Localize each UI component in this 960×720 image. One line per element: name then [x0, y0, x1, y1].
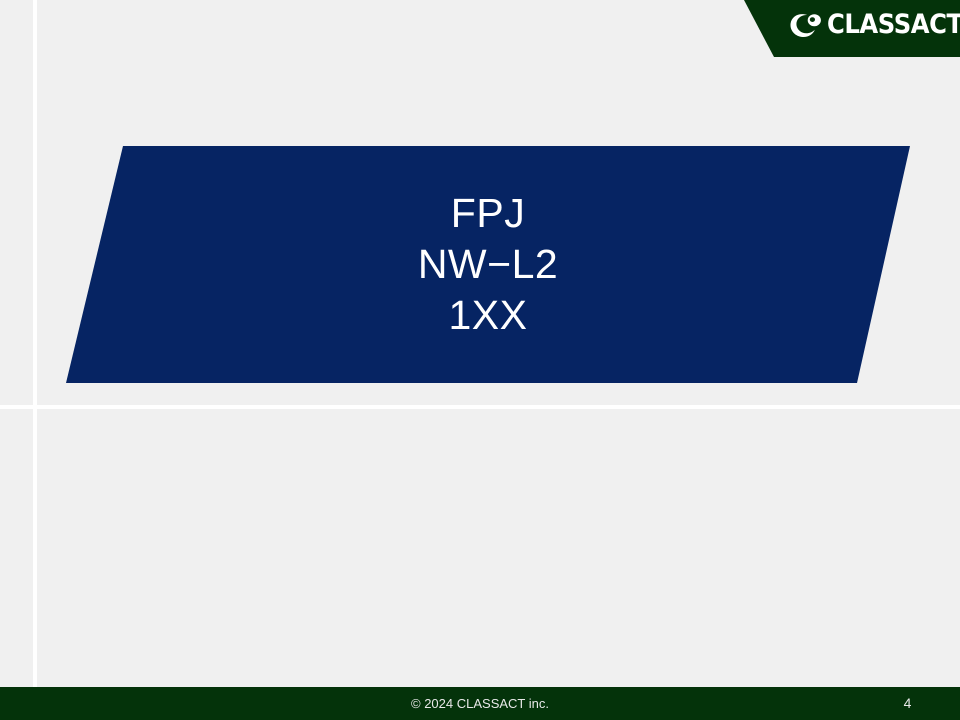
brand-wordmark: CLASSACT — [827, 11, 960, 38]
title-line-1: FPJ — [451, 188, 525, 239]
footer-bar: © 2024 CLASSACT inc. 4 — [0, 687, 960, 720]
title-plate: FPJ NW−L2 1XX — [60, 146, 916, 383]
vertical-divider-rule — [33, 0, 37, 720]
slide-canvas: CLASSACT FPJ NW−L2 1XX © 2024 CLASSACT i… — [0, 0, 960, 720]
footer-page-number: 4 — [855, 687, 960, 720]
brand-banner: CLASSACT — [744, 0, 960, 57]
title-text-stack: FPJ NW−L2 1XX — [60, 146, 916, 383]
footer-copyright: © 2024 CLASSACT inc. — [0, 687, 960, 720]
horizontal-divider-rule — [0, 405, 960, 409]
brand-lockup: CLASSACT — [790, 11, 960, 38]
classact-crescent-eye-logo-icon — [790, 12, 824, 38]
title-line-2: NW−L2 — [418, 239, 558, 290]
title-line-3: 1XX — [449, 290, 528, 341]
